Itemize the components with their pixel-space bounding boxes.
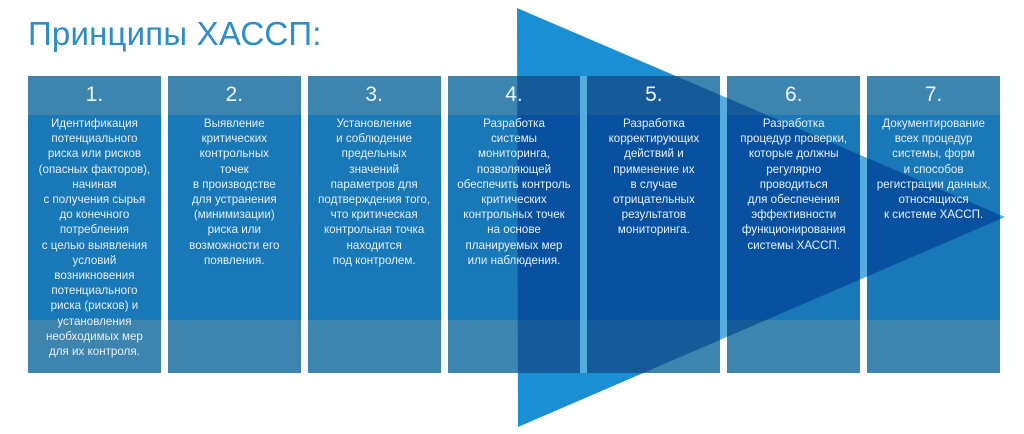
principle-column-3[interactable]: 3. Установление и соблюдение предельных … (308, 76, 441, 373)
principle-text: Разработка системы мониторинга, позволяю… (453, 116, 576, 268)
principle-number: 7. (872, 76, 995, 114)
column-content: 1. Идентификация потенциального риска ил… (28, 76, 161, 373)
principle-column-4[interactable]: 4. Разработка системы мониторинга, позво… (448, 76, 581, 373)
principles-columns: 1. Идентификация потенциального риска ил… (28, 76, 1000, 373)
principle-text: Установление и соблюдение предельных зна… (313, 116, 436, 268)
column-content: 4. Разработка системы мониторинга, позво… (448, 76, 581, 373)
principle-number: 1. (33, 76, 156, 114)
principle-column-1[interactable]: 1. Идентификация потенциального риска ил… (28, 76, 161, 373)
column-content: 2. Выявление критических контрольных точ… (168, 76, 301, 373)
principle-number: 2. (173, 76, 296, 114)
principle-text: Разработка корректирующих действий и при… (592, 116, 715, 238)
principle-column-5[interactable]: 5. Разработка корректирующих действий и … (587, 76, 720, 373)
principle-column-7[interactable]: 7. Документирование всех процедур систем… (867, 76, 1000, 373)
principle-column-6[interactable]: 6. Разработка процедур проверки, которые… (727, 76, 860, 373)
infographic-canvas: Принципы ХАССП: 1. Идентификация потенци… (0, 0, 1024, 434)
principle-number: 6. (732, 76, 855, 114)
column-content: 6. Разработка процедур проверки, которые… (727, 76, 860, 373)
principle-text: Идентификация потенциального риска или р… (33, 116, 156, 359)
principle-number: 3. (313, 76, 436, 114)
principle-text: Разработка процедур проверки, которые до… (732, 116, 855, 253)
column-content: 5. Разработка корректирующих действий и … (587, 76, 720, 373)
principle-column-2[interactable]: 2. Выявление критических контрольных точ… (168, 76, 301, 373)
principle-number: 5. (592, 76, 715, 114)
principle-text: Выявление критических контрольных точек … (173, 116, 296, 268)
column-content: 3. Установление и соблюдение предельных … (308, 76, 441, 373)
page-title: Принципы ХАССП: (28, 14, 322, 54)
principle-number: 4. (453, 76, 576, 114)
principle-text: Документирование всех процедур системы, … (872, 116, 995, 222)
column-content: 7. Документирование всех процедур систем… (867, 76, 1000, 373)
